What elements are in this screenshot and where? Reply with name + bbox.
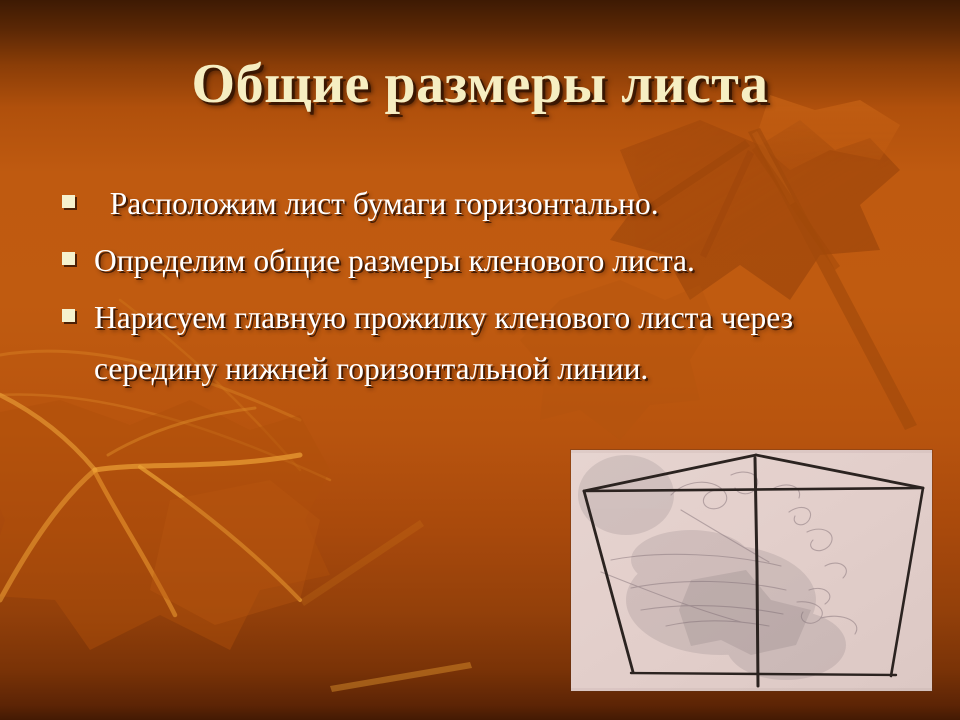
presentation-slide: Общие размеры листа Расположим лист бума… <box>0 0 960 720</box>
square-bullet-icon <box>62 309 75 322</box>
bullet-list: Расположим лист бумаги горизонтально. Оп… <box>56 178 886 400</box>
list-item-text: Нарисуем главную прожилку кленового лист… <box>94 292 834 394</box>
list-item: Расположим лист бумаги горизонтально. <box>56 178 886 229</box>
list-item: Нарисуем главную прожилку кленового лист… <box>56 292 886 394</box>
list-item: Определим общие размеры кленового листа. <box>56 235 886 286</box>
square-bullet-icon <box>62 252 75 265</box>
slide-title: Общие размеры листа <box>0 52 960 116</box>
leaf-highlight-streak <box>300 520 472 692</box>
leaf-shape-bottom-left <box>0 395 330 650</box>
list-item-text: Расположим лист бумаги горизонтально. <box>94 178 886 229</box>
list-item-text: Определим общие размеры кленового листа. <box>94 235 794 286</box>
sketch-image <box>571 450 932 691</box>
square-bullet-icon <box>62 195 75 208</box>
